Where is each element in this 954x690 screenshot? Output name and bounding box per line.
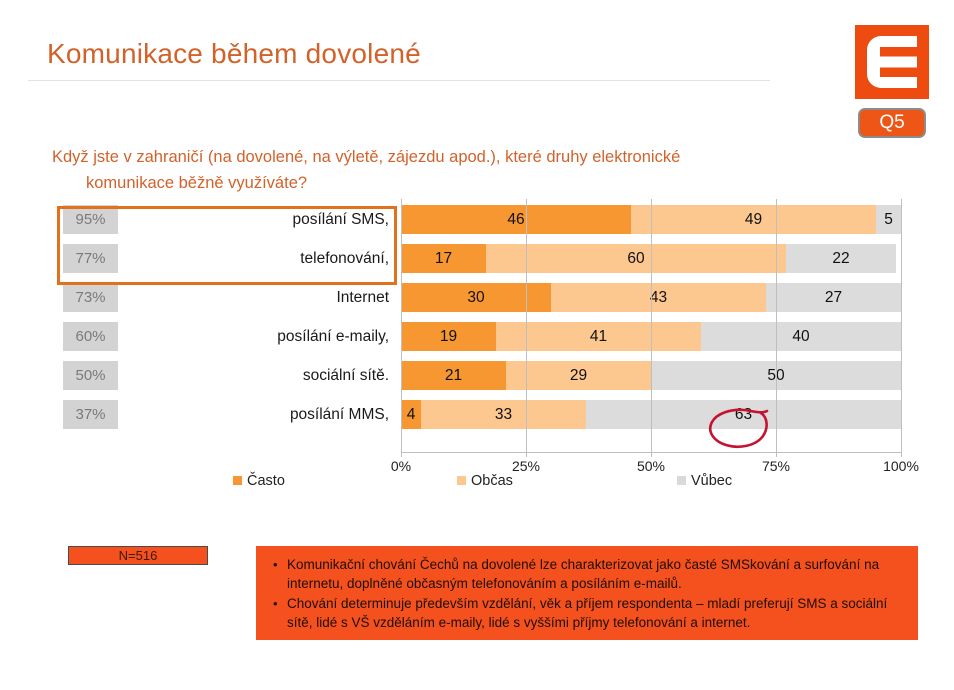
legend-item: Vůbec <box>677 473 732 489</box>
chart-row: 60%posílání e-maily,194140 <box>57 322 917 351</box>
legend-swatch-icon <box>233 476 242 485</box>
row-plot: 43363 <box>401 400 901 429</box>
bar-segment-casto: 17 <box>401 244 486 273</box>
chart-row: 37%posílání MMS,43363 <box>57 400 917 429</box>
axis-tick-label: 75% <box>762 458 790 474</box>
summary-bullet: Chování determinuje především vzdělání, … <box>287 594 904 632</box>
axis-tick <box>401 452 402 457</box>
row-plot: 46495 <box>401 205 901 234</box>
row-percent-label: 60% <box>63 322 118 351</box>
row-percent-label: 50% <box>63 361 118 390</box>
bar-segment-vubec: 40 <box>701 322 901 351</box>
axis-tick <box>526 452 527 457</box>
summary-bullet-list: Komunikační chování Čechů na dovolené lz… <box>270 555 904 632</box>
legend-item: Často <box>233 473 285 489</box>
row-category-label: Internet <box>127 283 389 312</box>
bar-segment-obcas: 43 <box>551 283 766 312</box>
row-category-label: posílání e-maily, <box>127 322 389 351</box>
question-badge: Q5 <box>858 108 926 138</box>
axis-tick-label: 100% <box>883 458 919 474</box>
axis-tick-label: 50% <box>637 458 665 474</box>
bar-segment-obcas: 60 <box>486 244 786 273</box>
chart: 95%posílání SMS,4649577%telefonování,176… <box>57 205 917 490</box>
axis-tick <box>776 452 777 457</box>
row-category-label: posílání MMS, <box>127 400 389 429</box>
bar-segment-obcas: 33 <box>421 400 586 429</box>
bar-segment-casto: 21 <box>401 361 506 390</box>
axis-tick-label: 0% <box>391 458 411 474</box>
row-plot: 194140 <box>401 322 901 351</box>
row-plot: 304327 <box>401 283 901 312</box>
axis-tick-label: 25% <box>512 458 540 474</box>
chart-legend: ČastoObčasVůbec <box>57 473 917 495</box>
chart-row: 73%Internet304327 <box>57 283 917 312</box>
chart-row: 50%sociální sítě.212950 <box>57 361 917 390</box>
row-percent-label: 37% <box>63 400 118 429</box>
page-title: Komunikace během dovolené <box>47 38 421 70</box>
bar-segment-vubec: 5 <box>876 205 901 234</box>
cez-logo <box>855 25 929 99</box>
bar-segment-obcas: 29 <box>506 361 651 390</box>
highlight-rectangle-annotation <box>57 206 397 285</box>
legend-item: Občas <box>457 473 513 489</box>
legend-swatch-icon <box>457 476 466 485</box>
row-plot: 176022 <box>401 244 901 273</box>
axis-tick <box>651 452 652 457</box>
title-divider <box>28 80 770 81</box>
bar-segment-casto: 4 <box>401 400 421 429</box>
bar-segment-casto: 46 <box>401 205 631 234</box>
row-percent-label: 73% <box>63 283 118 312</box>
question-line-1: Když jste v zahraničí (na dovolené, na v… <box>52 148 680 166</box>
bar-segment-vubec: 63 <box>586 400 901 429</box>
question-line-2: komunikace běžně využíváte? <box>52 170 882 196</box>
bar-segment-vubec: 50 <box>651 361 901 390</box>
legend-swatch-icon <box>677 476 686 485</box>
legend-label: Občas <box>471 473 513 489</box>
bar-segment-casto: 19 <box>401 322 496 351</box>
bar-segment-vubec: 27 <box>766 283 901 312</box>
bar-segment-obcas: 41 <box>496 322 701 351</box>
bar-segment-casto: 30 <box>401 283 551 312</box>
cez-logo-glyph <box>867 36 917 88</box>
summary-callout: Komunikační chování Čechů na dovolené lz… <box>256 546 918 640</box>
sample-size-badge: N=516 <box>68 546 208 565</box>
row-plot: 212950 <box>401 361 901 390</box>
row-category-label: sociální sítě. <box>127 361 389 390</box>
legend-label: Vůbec <box>691 473 732 489</box>
bar-segment-vubec: 22 <box>786 244 896 273</box>
axis-tick <box>901 452 902 457</box>
legend-label: Často <box>247 473 285 489</box>
bar-segment-obcas: 49 <box>631 205 876 234</box>
question-text: Když jste v zahraničí (na dovolené, na v… <box>52 144 882 196</box>
summary-bullet: Komunikační chování Čechů na dovolené lz… <box>287 555 904 593</box>
